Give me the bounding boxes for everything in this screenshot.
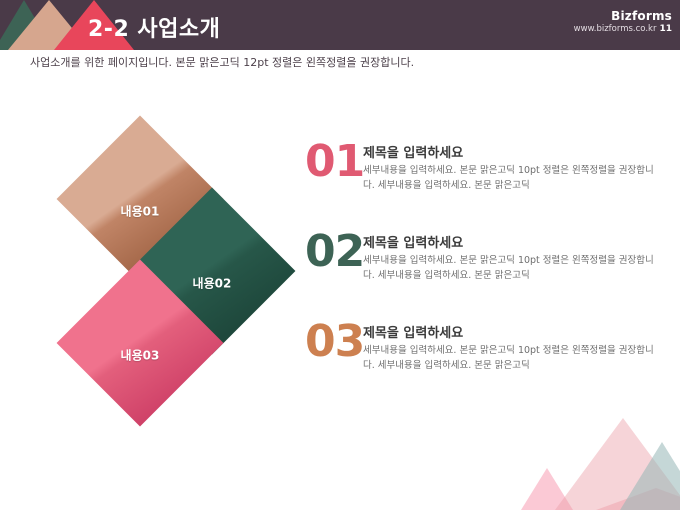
item-body-02: 제목을 입력하세요 세부내용을 입력하세요. 본문 맑은고딕 10pt 정렬은 … bbox=[363, 232, 663, 283]
item-body-01: 제목을 입력하세요 세부내용을 입력하세요. 본문 맑은고딕 10pt 정렬은 … bbox=[363, 142, 663, 193]
page-number: 11 bbox=[659, 24, 672, 34]
item-number-03: 03 bbox=[305, 320, 364, 364]
content-item-03: 03 제목을 입력하세요 세부내용을 입력하세요. 본문 맑은고딕 10pt 정… bbox=[305, 320, 665, 410]
item-description-03: 세부내용을 입력하세요. 본문 맑은고딕 10pt 정렬은 왼쪽정렬을 권장합니… bbox=[363, 344, 663, 373]
diamond-label-01: 내용01 bbox=[121, 202, 160, 219]
bottom-triangle-teal-icon bbox=[620, 442, 680, 510]
brand-url: www.bizforms.co.kr bbox=[574, 24, 657, 34]
item-description-02: 세부내용을 입력하세요. 본문 맑은고딕 10pt 정렬은 왼쪽정렬을 권장합니… bbox=[363, 254, 663, 283]
diamond-label-03: 내용03 bbox=[121, 346, 160, 363]
item-body-03: 제목을 입력하세요 세부내용을 입력하세요. 본문 맑은고딕 10pt 정렬은 … bbox=[363, 322, 663, 373]
content-list: 01 제목을 입력하세요 세부내용을 입력하세요. 본문 맑은고딕 10pt 정… bbox=[305, 140, 665, 410]
content-item-01: 01 제목을 입력하세요 세부내용을 입력하세요. 본문 맑은고딕 10pt 정… bbox=[305, 140, 665, 230]
diamond-label-02: 내용02 bbox=[193, 274, 232, 291]
item-title-03: 제목을 입력하세요 bbox=[363, 322, 663, 341]
slide-subtitle: 사업소개를 위한 페이지입니다. 본문 맑은고딕 12pt 정렬은 왼쪽정렬을 … bbox=[30, 54, 414, 70]
page-title: 2-2 사업소개 bbox=[88, 11, 220, 43]
content-item-02: 02 제목을 입력하세요 세부내용을 입력하세요. 본문 맑은고딕 10pt 정… bbox=[305, 230, 665, 320]
item-number-01: 01 bbox=[305, 140, 364, 184]
bottom-decoration bbox=[0, 410, 680, 510]
brand-name: Bizforms bbox=[574, 9, 672, 24]
slide-header-band: 2-2 사업소개 Bizforms www.bizforms.co.kr11 bbox=[0, 0, 680, 50]
presentation-slide: 2-2 사업소개 Bizforms www.bizforms.co.kr11 사… bbox=[0, 0, 680, 510]
item-title-02: 제목을 입력하세요 bbox=[363, 232, 663, 251]
brand-sub-row: www.bizforms.co.kr11 bbox=[574, 24, 672, 35]
item-title-01: 제목을 입력하세요 bbox=[363, 142, 663, 161]
brand-block: Bizforms www.bizforms.co.kr11 bbox=[574, 9, 672, 35]
diamond-diagram: 내용01 내용02 내용03 bbox=[55, 128, 295, 408]
item-description-01: 세부내용을 입력하세요. 본문 맑은고딕 10pt 정렬은 왼쪽정렬을 권장합니… bbox=[363, 164, 663, 193]
item-number-02: 02 bbox=[305, 230, 364, 274]
